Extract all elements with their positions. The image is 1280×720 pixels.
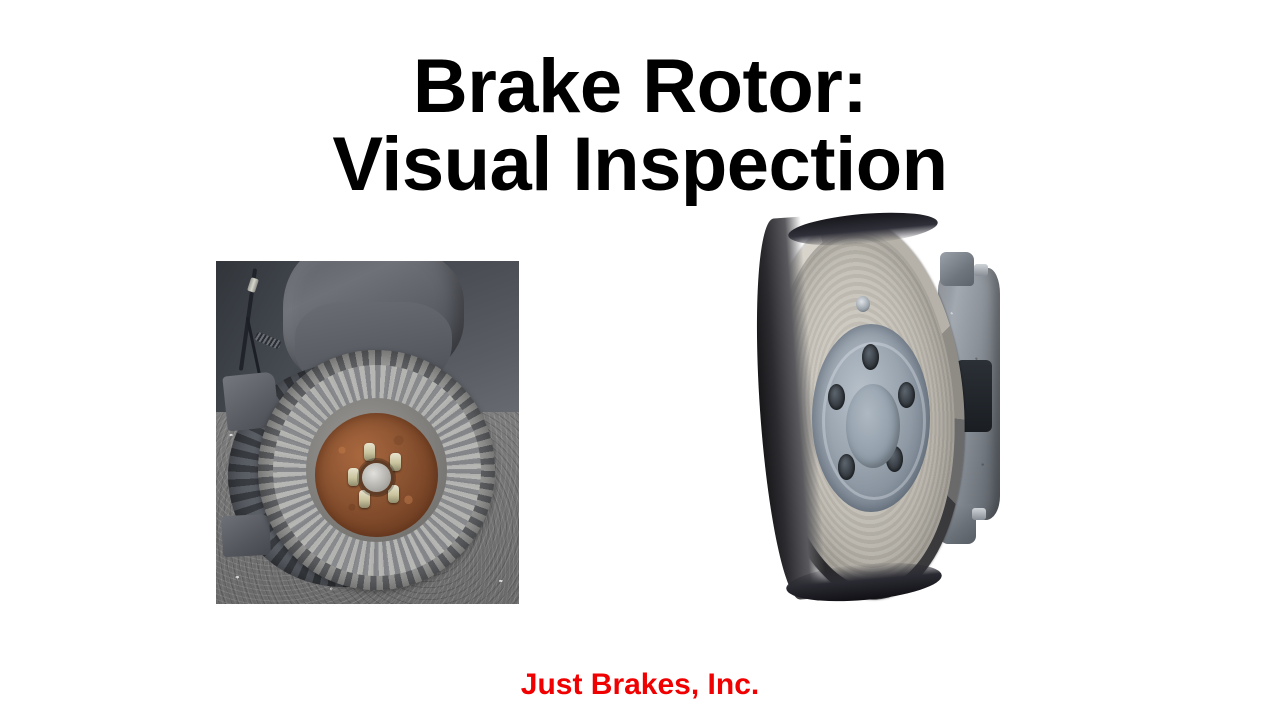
slide-title: Brake Rotor: Visual Inspection <box>0 48 1280 203</box>
abs-sensor-icon <box>856 296 870 312</box>
lug-hole-icon <box>898 382 915 408</box>
brake-pad-bracket-lower <box>221 514 272 558</box>
lug-hole-icon <box>838 454 855 480</box>
slide-footer: Just Brakes, Inc. <box>0 668 1280 702</box>
caliper-guide-bolt-top-icon <box>974 264 988 276</box>
lug-hole-icon <box>828 384 845 410</box>
lug-stud-icon <box>364 443 375 461</box>
slide-canvas: Brake Rotor: Visual Inspection <box>0 0 1280 720</box>
hub-center-cap <box>846 384 900 468</box>
new-rotor-caliper-cutout <box>760 212 1010 607</box>
rotor-rim-top-arc <box>787 208 939 251</box>
lug-stud-icon <box>348 468 359 486</box>
hub-center-bore <box>362 463 391 493</box>
lug-stud-icon <box>390 453 401 471</box>
lug-hole-icon <box>862 344 879 370</box>
caliper-upper-bracket <box>940 252 974 286</box>
lug-stud-icon <box>388 485 399 503</box>
title-line-2: Visual Inspection <box>0 126 1280 204</box>
caliper-guide-bolt-bottom-icon <box>972 508 986 520</box>
worn-rotor-photo <box>216 261 519 604</box>
company-name: Just Brakes, Inc. <box>521 668 759 701</box>
rusty-hub <box>315 413 438 538</box>
worn-rotor-disc <box>258 350 494 590</box>
rotor-hub-hat <box>812 324 930 512</box>
lug-stud-icon <box>359 490 370 508</box>
title-line-1: Brake Rotor: <box>0 48 1280 126</box>
